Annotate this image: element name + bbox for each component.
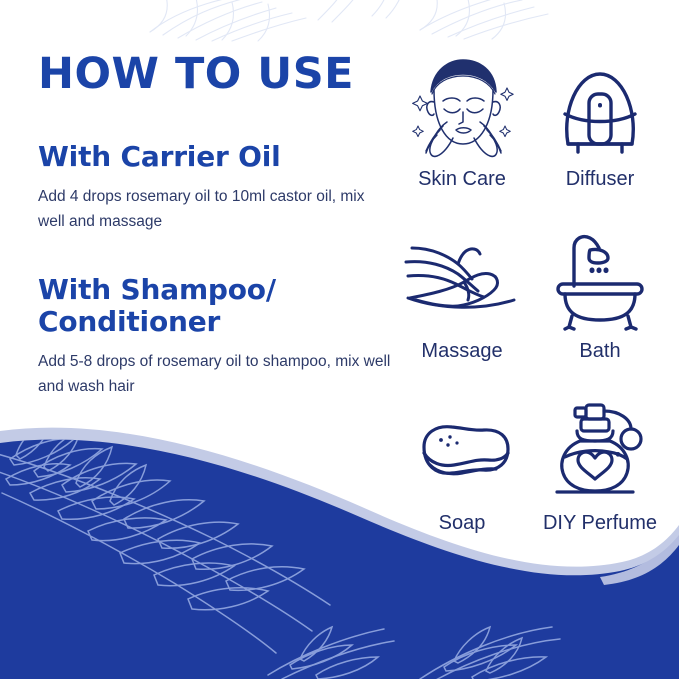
usage-item-soap: Soap: [396, 398, 528, 570]
usage-item-massage: Massage: [396, 226, 528, 398]
instructions-column: HOW TO USE With Carrier Oil Add 4 drops …: [38, 52, 393, 439]
soap-bar-icon: [410, 398, 514, 510]
instruction-section-carrier-oil: With Carrier Oil Add 4 drops rosemary oi…: [38, 141, 393, 234]
how-to-use-infographic: HOW TO USE With Carrier Oil Add 4 drops …: [0, 0, 679, 679]
usage-icon-grid: Skin Care Diffuser: [396, 54, 666, 570]
usage-item-skin-care: Skin Care: [396, 54, 528, 226]
usage-label-massage: Massage: [421, 340, 502, 363]
instruction-section-shampoo: With Shampoo/ Conditioner Add 5-8 drops …: [38, 274, 393, 399]
massage-hands-icon: [402, 226, 522, 338]
usage-label-diffuser: Diffuser: [566, 168, 635, 191]
page-title: HOW TO USE: [38, 52, 393, 97]
usage-item-bath: Bath: [534, 226, 666, 398]
usage-label-skin-care: Skin Care: [418, 168, 506, 191]
usage-label-soap: Soap: [439, 512, 486, 535]
bathtub-shower-icon: [546, 226, 654, 338]
section-heading-carrier-oil: With Carrier Oil: [38, 141, 393, 173]
usage-label-diy-perfume: DIY Perfume: [543, 512, 657, 535]
section-heading-shampoo: With Shampoo/ Conditioner: [38, 274, 393, 339]
usage-item-diffuser: Diffuser: [534, 54, 666, 226]
usage-item-diy-perfume: DIY Perfume: [534, 398, 666, 570]
diffuser-icon: [548, 54, 652, 166]
section-body-shampoo: Add 5-8 drops of rosemary oil to shampoo…: [38, 349, 393, 399]
perfume-bottle-heart-icon: [545, 398, 655, 510]
rosemary-line-art-top: [0, 0, 679, 54]
usage-label-bath: Bath: [579, 340, 620, 363]
skin-care-face-icon: [403, 54, 521, 166]
section-body-carrier-oil: Add 4 drops rosemary oil to 10ml castor …: [38, 184, 393, 234]
